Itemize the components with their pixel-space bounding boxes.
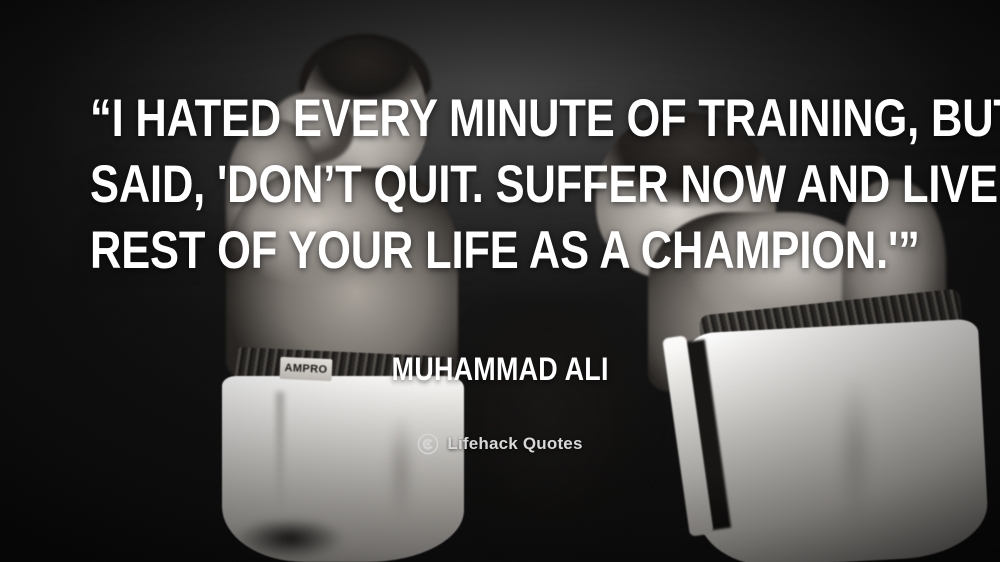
left-boxer-leg-shadow: [230, 520, 350, 562]
quote-image-card: AMPRO “I HATED EVERY MINUTE OF TRAINING,…: [0, 0, 1000, 562]
left-shorts-fold-b: [378, 402, 424, 532]
quote-line-2: SAID, 'DON’T QUIT. SUFFER NOW AND LIVE T…: [90, 152, 910, 218]
watermark: Lifehack Quotes: [0, 433, 1000, 455]
quote-line-3: REST OF YOUR LIFE AS A CHAMPION.'”: [90, 218, 910, 284]
watermark-label: Lifehack Quotes: [447, 434, 582, 454]
quote-attribution: MUHAMMAD ALI: [0, 351, 1000, 387]
photo-shadow-gap: [452, 300, 662, 562]
quote-text: “I HATED EVERY MINUTE OF TRAINING, BUT I…: [0, 86, 1000, 284]
lifehack-circle-logo-icon: [417, 433, 439, 455]
quote-line-1: “I HATED EVERY MINUTE OF TRAINING, BUT I: [90, 86, 910, 152]
author-name: MUHAMMAD ALI: [391, 351, 608, 387]
